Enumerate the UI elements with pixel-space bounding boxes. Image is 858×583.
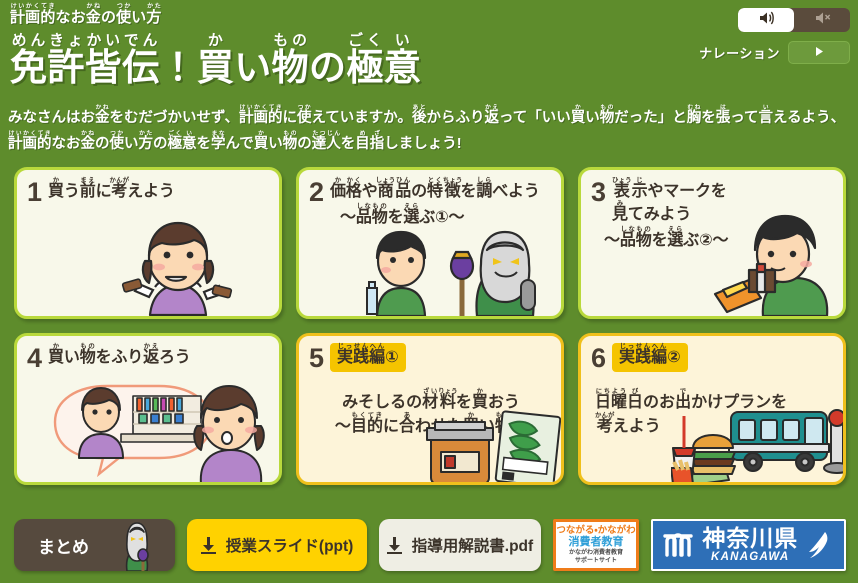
- speaker-mute-button[interactable]: [794, 8, 850, 32]
- consumer-banner-line-2: 消費者教育: [569, 536, 624, 549]
- narration-play-button[interactable]: [788, 41, 850, 64]
- speaker-mute-icon: [814, 11, 831, 30]
- download-icon: [201, 537, 216, 554]
- card-2-title: 価か格かくや商しょう品ひんの特とく徴ちょうを調しらべよう 〜品しな物ものを選えら…: [330, 177, 540, 229]
- audio-toggle[interactable]: [738, 8, 850, 32]
- card-1-number: 1: [27, 179, 42, 206]
- card-3-title: 表ひょう示じやマークを 見みてみよう 〜品しな物ものを選えらぶ②〜: [612, 177, 728, 252]
- lesson-card-6[interactable]: 6 実じっ践せん編へん② 日にち曜よう日びのお出でかけプランを 考かんがえよう: [578, 333, 846, 485]
- lesson-card-5[interactable]: 5 実じっ践せん編へん① みそしるの材ざい料りょうを買かおう 〜目もく的てきに合…: [296, 333, 564, 485]
- download-icon: [387, 537, 402, 554]
- card-5-badge: 実じっ践せん編へん①: [330, 343, 406, 372]
- card-4-number: 4: [27, 345, 42, 372]
- download-pdf-button[interactable]: 指導用解説書.pdf: [379, 519, 540, 571]
- header-titles: 計けい画かく的てきなお金かねの使つかい方かた 免めん許きょ皆かい伝でん！買かい物…: [10, 4, 421, 91]
- kanagawa-banner-en: KANAGAWA: [702, 552, 798, 564]
- intro-line-1: みなさんはお金かねをむだづかいせず、計けい画かく的てきに使つかえていますか。後あ…: [8, 105, 852, 131]
- speaker-on-button[interactable]: [738, 8, 794, 32]
- kanagawa-emblem-icon: [661, 528, 695, 562]
- kanagawa-banner-text: 神奈川県 KANAGAWA: [702, 527, 798, 564]
- boy-and-wizard-illustration: [357, 228, 562, 318]
- lesson-card-grid: 1 買かう前まえに考かんがえよう: [14, 167, 846, 485]
- lesson-card-4[interactable]: 4 買かい物ものをふり返かえろう: [14, 333, 282, 485]
- wizard-icon: [113, 519, 161, 571]
- card-5-title-line-1: みそしるの材ざい料りょうを買かおう: [311, 388, 551, 412]
- narration-label: ナレーション: [699, 43, 780, 62]
- card-5-number: 5: [309, 345, 324, 372]
- card-1-title: 買かう前まえに考かんがえよう: [48, 177, 175, 206]
- header-controls: ナレーション: [660, 8, 850, 64]
- download-ppt-label: 授業スライド(ppt): [226, 534, 353, 556]
- download-ppt-button[interactable]: 授業スライド(ppt): [187, 519, 367, 571]
- card-1-header: 1 買かう前まえに考かんがえよう: [27, 177, 271, 206]
- intro-line-2: 計けい画かく的てきなお金かねの使つかい方かたの極ごく意いを学まなんで買かい物もの…: [8, 131, 852, 157]
- lesson-card-2[interactable]: 2 価か格かくや商しょう品ひんの特とく徴ちょうを調しらべよう 〜品しな物ものを選…: [296, 167, 564, 319]
- card-6-number: 6: [591, 345, 606, 372]
- download-pdf-label: 指導用解説書.pdf: [412, 534, 533, 556]
- card-5-title: みそしるの材ざい料りょうを買かおう 〜目もく的てきに合あわせた買かい物もの〜: [311, 388, 551, 436]
- card-3-header: 3 表ひょう示じやマークを 見みてみよう 〜品しな物ものを選えらぶ②〜: [591, 177, 835, 252]
- card-6-title-line-1: 日にち曜よう日びのお出でかけプランを: [595, 388, 833, 412]
- lesson-card-3[interactable]: 3 表ひょう示じやマークを 見みてみよう 〜品しな物ものを選えらぶ②〜: [578, 167, 846, 319]
- girl-thinking-illustration: [95, 215, 245, 318]
- seagull-icon: [805, 530, 831, 560]
- card-4-header: 4 買かい物ものをふり返かえろう: [27, 343, 271, 372]
- consumer-education-banner[interactable]: つながる・かながわ 消費者教育 かながわ消費者教育 サポートサイト: [553, 519, 640, 571]
- intro-paragraph: みなさんはお金かねをむだづかいせず、計けい画かく的てきに使つかえていますか。後あ…: [8, 105, 852, 157]
- page-title: 免めん許きょ皆かい伝でん！買かい物ものの極ごく意い: [10, 33, 421, 91]
- card-5-title-line-2: 〜目もく的てきに合あわせた買かい物もの〜: [311, 412, 551, 436]
- play-icon: [814, 44, 825, 62]
- consumer-banner-line-1: つながる・かながわ: [556, 525, 635, 536]
- card-6-title: 日にち曜よう日びのお出でかけプランを 考かんがえよう: [595, 388, 833, 436]
- summary-button-label: まとめ: [38, 533, 89, 558]
- card-2-header: 2 価か格かくや商しょう品ひんの特とく徴ちょうを調しらべよう 〜品しな物ものを選…: [309, 177, 553, 229]
- kanagawa-prefecture-banner[interactable]: 神奈川県 KANAGAWA: [651, 519, 846, 571]
- card-6-badge: 実じっ践せん編へん②: [612, 343, 688, 372]
- summary-button[interactable]: まとめ: [14, 519, 175, 571]
- consumer-banner-line-4: サポートサイト: [575, 557, 617, 565]
- girl-looking-back-illustration: [51, 378, 275, 485]
- card-6-header: 6 実じっ践せん編へん②: [591, 343, 835, 372]
- footer-toolbar: まとめ 授業スライド(ppt) 指導用解説書.pdf つながる・かながわ: [14, 517, 846, 573]
- slide-root: 計けい画かく的てきなお金かねの使つかい方かた 免めん許きょ皆かい伝でん！買かい物…: [0, 0, 858, 583]
- card-2-number: 2: [309, 179, 324, 229]
- consumer-banner-line-3: かながわ消費者教育: [569, 549, 623, 557]
- card-6-title-line-2: 考かんがえよう: [595, 412, 833, 436]
- speaker-on-icon: [758, 11, 775, 30]
- lesson-card-1[interactable]: 1 買かう前まえに考かんがえよう: [14, 167, 282, 319]
- kanagawa-banner-jp: 神奈川県: [702, 527, 798, 550]
- card-4-title: 買かい物ものをふり返かえろう: [48, 343, 191, 372]
- narration-control: ナレーション: [660, 41, 850, 64]
- kicker-title: 計けい画かく的てきなお金かねの使つかい方かた: [10, 4, 421, 27]
- card-5-header: 5 実じっ践せん編へん①: [309, 343, 553, 372]
